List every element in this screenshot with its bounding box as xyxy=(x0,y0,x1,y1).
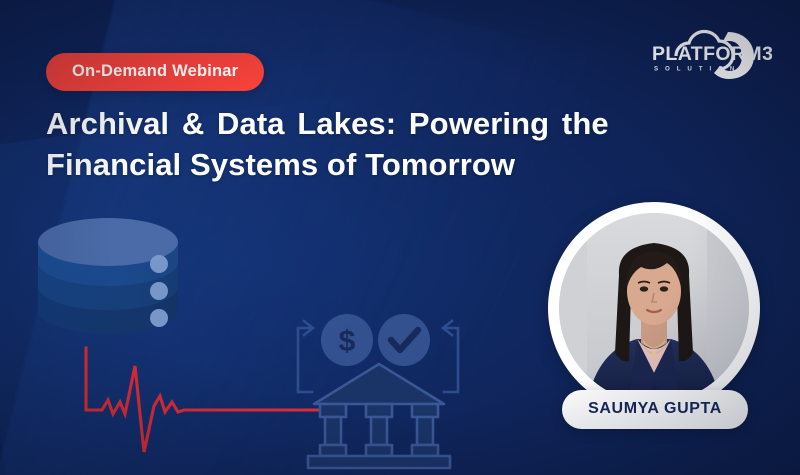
platform3-logo[interactable]: PLATFORM3 S O L U T I O N S xyxy=(632,16,772,88)
bracket-arrow-right-icon xyxy=(298,321,313,392)
page-title: Archival & Data Lakes: Powering the Fina… xyxy=(46,104,686,186)
bank-building-icon xyxy=(308,364,450,468)
on-demand-webinar-badge[interactable]: On-Demand Webinar xyxy=(46,53,264,91)
database-indicator-dot xyxy=(150,255,168,273)
speaker-name-badge: SAUMYA GUPTA xyxy=(562,390,748,429)
check-circle-icon xyxy=(378,314,430,366)
speaker-portrait-frame xyxy=(548,202,760,414)
svg-text:$: $ xyxy=(339,325,356,358)
finance-illustration-group: $ xyxy=(292,312,467,470)
headline-line-1: Archival & Data Lakes: Powering the xyxy=(46,104,686,145)
logo-tagline-text: S O L U T I O N S xyxy=(654,66,748,73)
dollar-circle-icon: $ xyxy=(321,314,373,366)
database-indicator-dot xyxy=(150,282,168,300)
logo-brand-text: PLATFORM3 xyxy=(652,43,772,65)
database-indicator-dot xyxy=(150,309,168,327)
headline-line-2: Financial Systems of Tomorrow xyxy=(46,145,686,186)
webinar-banner: PLATFORM3 S O L U T I O N S On-Demand We… xyxy=(0,0,800,475)
speaker-portrait xyxy=(559,213,749,403)
bracket-arrow-left-icon xyxy=(443,321,458,392)
database-cylinder-icon xyxy=(28,218,188,363)
